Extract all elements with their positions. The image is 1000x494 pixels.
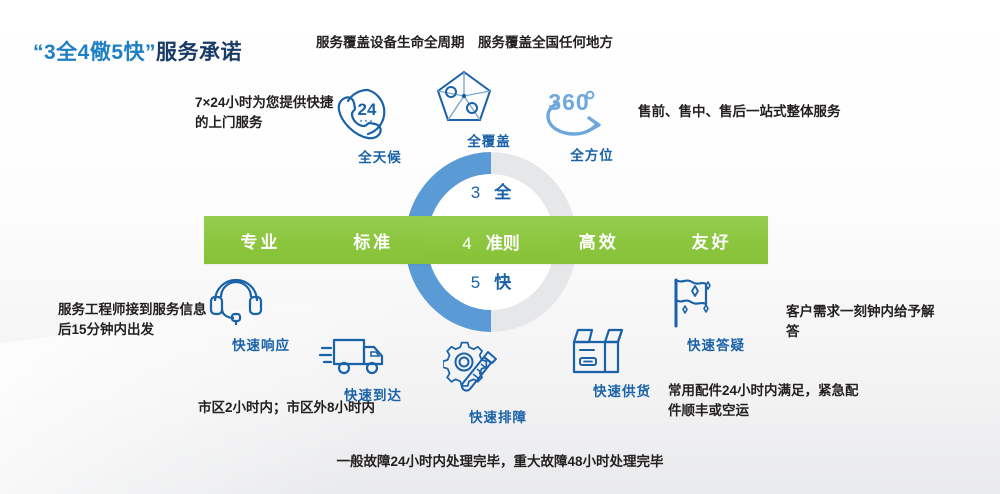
truck-icon [318, 332, 428, 380]
phone-24-icon: 24 [325, 84, 435, 142]
caption-fault-resolution: 一般故障24小时内处理完毕，重大故障48小时处理完毕 [0, 450, 1000, 470]
green-bar-segment-professional[interactable]: 专业 [204, 228, 317, 253]
ring-row-4-text: 准则 [486, 234, 520, 253]
ring-row-5-kuai: 5快 [405, 268, 577, 293]
caption-answer-time: 客户需求一刻钟内给予解 答 [786, 302, 935, 343]
service-commitment-slide: “3全4儆5快”服务承诺 服务覆盖设备生命全周期 服务覆盖全国任何地方 7×24… [0, 0, 1000, 494]
ring-row-5-text: 快 [494, 273, 511, 292]
svg-text:24: 24 [358, 100, 377, 119]
caption-one-stop-service: 售前、售中、售后一站式整体服务 [638, 102, 841, 122]
icon-label-fast-repair: 快速排障 [443, 406, 553, 426]
pentagon-network-icon [434, 68, 544, 126]
ring-row-3-number: 3 [471, 183, 480, 202]
icon-block-fast-arrival: 快速到达 [318, 332, 428, 404]
icon-label-fast-response: 快速响应 [206, 334, 316, 354]
icon-label-full-coverage: 全覆盖 [434, 130, 544, 150]
caption-top-coverage: 服务覆盖设备生命全周期 服务覆盖全国任何地方 [316, 33, 613, 53]
icon-block-fast-repair: 快速排障 [443, 340, 553, 426]
page-title-dark: 服务承诺 [156, 41, 242, 64]
ring-row-5-number: 5 [471, 273, 480, 292]
ring-row-3-quan: 3全 [405, 178, 577, 203]
icon-block-full-coverage: 全覆盖 [434, 68, 544, 150]
caption-parts-supply: 常用配件24小时内满足，紧急配 件顺丰或空运 [668, 381, 859, 422]
page-title: “3全4儆5快”服务承诺 [33, 36, 242, 66]
ring-row-4-number: 4 [462, 234, 471, 253]
icon-block-fast-response: 快速响应 [206, 272, 316, 354]
ring-row-3-text: 全 [494, 183, 511, 202]
icon-label-fast-arrival: 快速到达 [318, 384, 428, 404]
flag-icon [661, 272, 771, 330]
page-title-accent: “3全4儆5快” [33, 41, 156, 64]
icon-block-fast-answer: 快速答疑 [661, 272, 771, 354]
green-bar-segment-friendly[interactable]: 友好 [655, 228, 768, 253]
gear-screwdriver-icon [443, 340, 553, 402]
icon-label-fast-answer: 快速答疑 [661, 334, 771, 354]
ring-row-4-zhunze: 4准则 [405, 229, 577, 254]
svg-text:360: 360 [548, 89, 589, 115]
icon-label-fast-supply: 快速供货 [567, 380, 677, 400]
caption-247-service: 7×24小时为您提供快捷 的上门服务 [195, 93, 333, 134]
headset-icon [206, 272, 316, 330]
caption-engineer-dispatch: 服务工程师接到服务信息 后15分钟内出发 [58, 300, 207, 341]
360-arrow-icon: 360 [537, 86, 647, 140]
